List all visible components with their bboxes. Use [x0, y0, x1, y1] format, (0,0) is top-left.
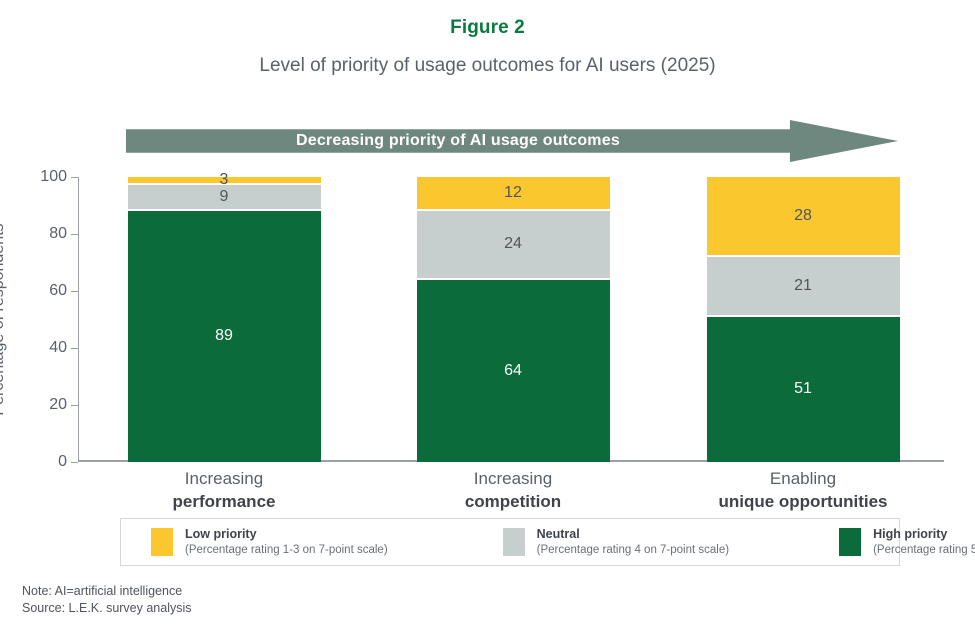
bar-value-label: 64 — [504, 363, 522, 379]
y-axis-tick-label: 0 — [58, 453, 67, 471]
bar-segment-low[interactable]: 12 — [417, 177, 610, 211]
y-axis-tick — [71, 177, 78, 178]
y-axis-title: Percentage of respondents — [0, 177, 10, 462]
bar-segment-neutral[interactable]: 9 — [128, 185, 321, 210]
bar-segment-high[interactable]: 51 — [707, 317, 900, 462]
y-axis-tick-label: 20 — [49, 396, 67, 414]
banner-label: Decreasing priority of AI usage outcomes — [126, 120, 790, 162]
legend-swatch-neutral-icon — [503, 528, 525, 556]
footnote-source: Source: L.E.K. survey analysis — [22, 600, 192, 617]
stacked-bar[interactable]: 3989 — [128, 177, 321, 462]
bar-segment-low[interactable]: 3 — [128, 177, 321, 185]
bar-value-label: 21 — [794, 278, 812, 294]
category-label-line2: performance — [88, 491, 361, 514]
y-axis-tick — [71, 405, 78, 406]
x-axis-category-label: Enablingunique opportunities — [667, 468, 940, 514]
y-axis-tick-label: 80 — [49, 225, 67, 243]
bar-value-label: 89 — [215, 328, 233, 344]
x-axis-category-label: Increasingcompetition — [377, 468, 650, 514]
footnotes: Note: AI=artificial intelligence Source:… — [22, 583, 192, 617]
legend-swatch-high-priority-icon — [839, 528, 861, 556]
y-axis-tick-label: 60 — [49, 282, 67, 300]
legend-subtitle-low-priority: (Percentage rating 1-3 on 7-point scale) — [185, 543, 388, 558]
legend-subtitle-high-priority: (Percentage rating 5-7 on 7-point scale) — [873, 543, 975, 558]
bar-value-label: 24 — [504, 236, 522, 252]
bar-segment-neutral[interactable]: 21 — [707, 257, 900, 317]
stacked-bar[interactable]: 122464 — [417, 177, 610, 462]
x-axis-category-labels: IncreasingperformanceIncreasingcompetiti… — [78, 468, 944, 516]
stacked-bar[interactable]: 282151 — [707, 177, 900, 462]
footnote-note: Note: AI=artificial intelligence — [22, 583, 192, 600]
legend-title-neutral: Neutral — [537, 526, 729, 542]
y-axis-tick — [71, 234, 78, 235]
category-label-line1: Increasing — [377, 468, 650, 491]
bar-group: 122464 — [417, 177, 610, 462]
bar-group: 3989 — [128, 177, 321, 462]
bar-segment-high[interactable]: 64 — [417, 280, 610, 462]
bar-value-label: 12 — [504, 185, 522, 201]
category-label-line2: competition — [377, 491, 650, 514]
category-label-line1: Increasing — [88, 468, 361, 491]
bar-segment-neutral[interactable]: 24 — [417, 211, 610, 279]
bar-series-container: 3989122464282151 — [78, 177, 944, 462]
y-axis-tick-label: 100 — [40, 168, 67, 186]
category-label-line1: Enabling — [667, 468, 940, 491]
chart-legend: Low priority (Percentage rating 1-3 on 7… — [120, 518, 900, 566]
y-axis-tick — [71, 462, 78, 463]
decreasing-priority-banner: Decreasing priority of AI usage outcomes — [126, 120, 898, 162]
bar-segment-high[interactable]: 89 — [128, 211, 321, 462]
legend-item-high-priority[interactable]: High priority (Percentage rating 5-7 on … — [839, 526, 975, 557]
legend-swatch-low-priority-icon — [151, 528, 173, 556]
y-axis-tick — [71, 291, 78, 292]
bar-value-label: 28 — [794, 208, 812, 224]
figure-subtitle: Level of priority of usage outcomes for … — [0, 55, 975, 77]
legend-item-neutral[interactable]: Neutral (Percentage rating 4 on 7-point … — [503, 526, 729, 557]
bar-value-label: 9 — [220, 189, 229, 205]
legend-item-low-priority[interactable]: Low priority (Percentage rating 1-3 on 7… — [151, 526, 388, 557]
bar-group: 282151 — [707, 177, 900, 462]
y-axis-tick-label: 40 — [49, 339, 67, 357]
bar-segment-low[interactable]: 28 — [707, 177, 900, 257]
figure-label: Figure 2 — [0, 17, 975, 39]
legend-title-low-priority: Low priority — [185, 526, 388, 542]
plot-area: 020406080100 3989122464282151 — [78, 177, 944, 462]
legend-title-high-priority: High priority — [873, 526, 975, 542]
x-axis-category-label: Increasingperformance — [88, 468, 361, 514]
legend-subtitle-neutral: (Percentage rating 4 on 7-point scale) — [537, 543, 729, 558]
category-label-line2: unique opportunities — [667, 491, 940, 514]
bar-value-label: 51 — [794, 381, 812, 397]
y-axis-tick — [71, 348, 78, 349]
